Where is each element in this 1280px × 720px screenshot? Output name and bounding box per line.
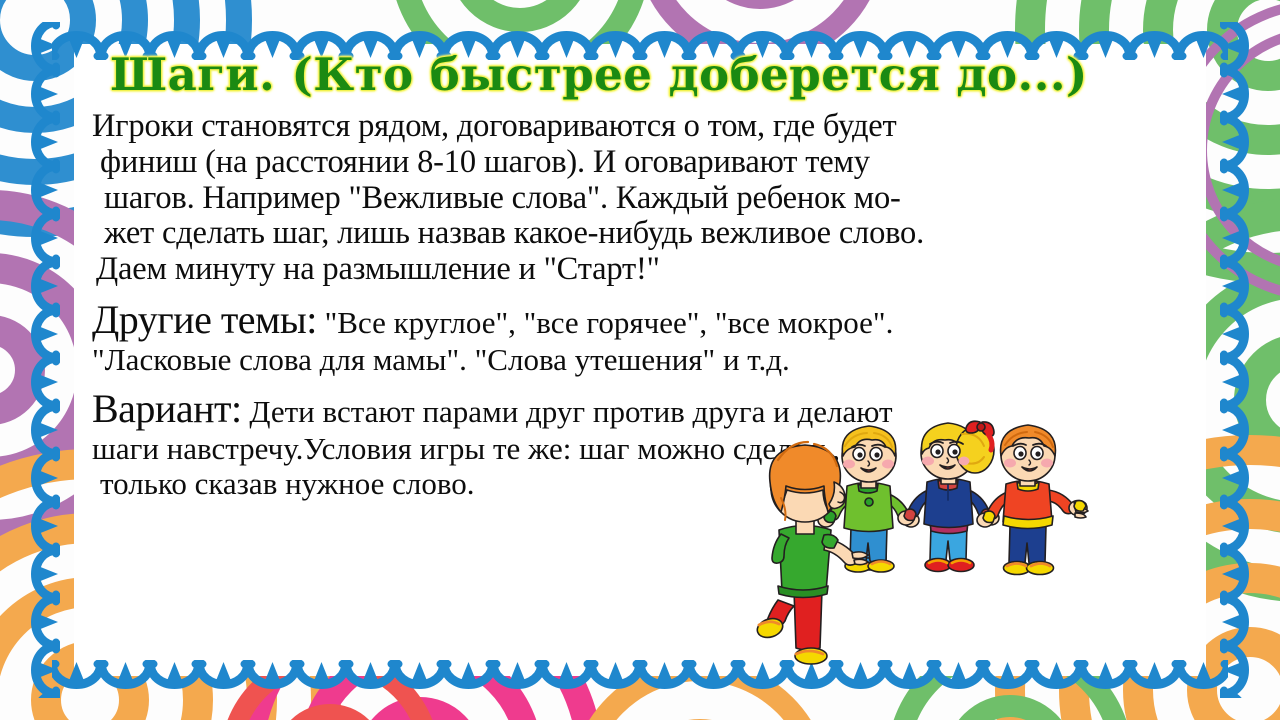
paragraph-intro: Игроки становятся рядом, договариваются … <box>92 109 1190 288</box>
intro-line-2: финиш (на расстоянии 8-10 шагов). И огов… <box>92 145 1190 181</box>
figure-girl-red-bow <box>898 421 999 571</box>
intro-line-1: Игроки становятся рядом, договариваются … <box>92 109 1190 145</box>
intro-line-3: шагов. Например "Вежливые слова". Каждый… <box>92 181 1190 217</box>
intro-line-4: жет сделать шаг, лишь назвав какое-нибуд… <box>92 216 1190 252</box>
spacer-2 <box>92 377 1190 387</box>
variant-lead: Вариант: <box>92 386 242 431</box>
slide-title: Шаги. (Кто быстрее доберется до...) <box>92 52 1190 97</box>
themes-rest-1: "Все круглое", "все горячее", "все мокро… <box>317 305 893 340</box>
themes-line-1: Другие темы: "Все круглое", "все горячее… <box>92 298 1190 343</box>
slide-canvas: Шаги. (Кто быстрее доберется до...) Игро… <box>0 0 1280 720</box>
themes-lead: Другие темы: <box>92 297 317 342</box>
children-illustration-svg <box>748 420 1098 682</box>
intro-line-5: Даем минуту на размышление и "Старт!" <box>92 252 1190 288</box>
themes-line-2: "Ласковые слова для мамы". "Слова утешен… <box>92 343 1190 378</box>
children-illustration <box>748 420 1098 682</box>
paragraph-themes: Другие темы: "Все круглое", "все горячее… <box>92 298 1190 378</box>
